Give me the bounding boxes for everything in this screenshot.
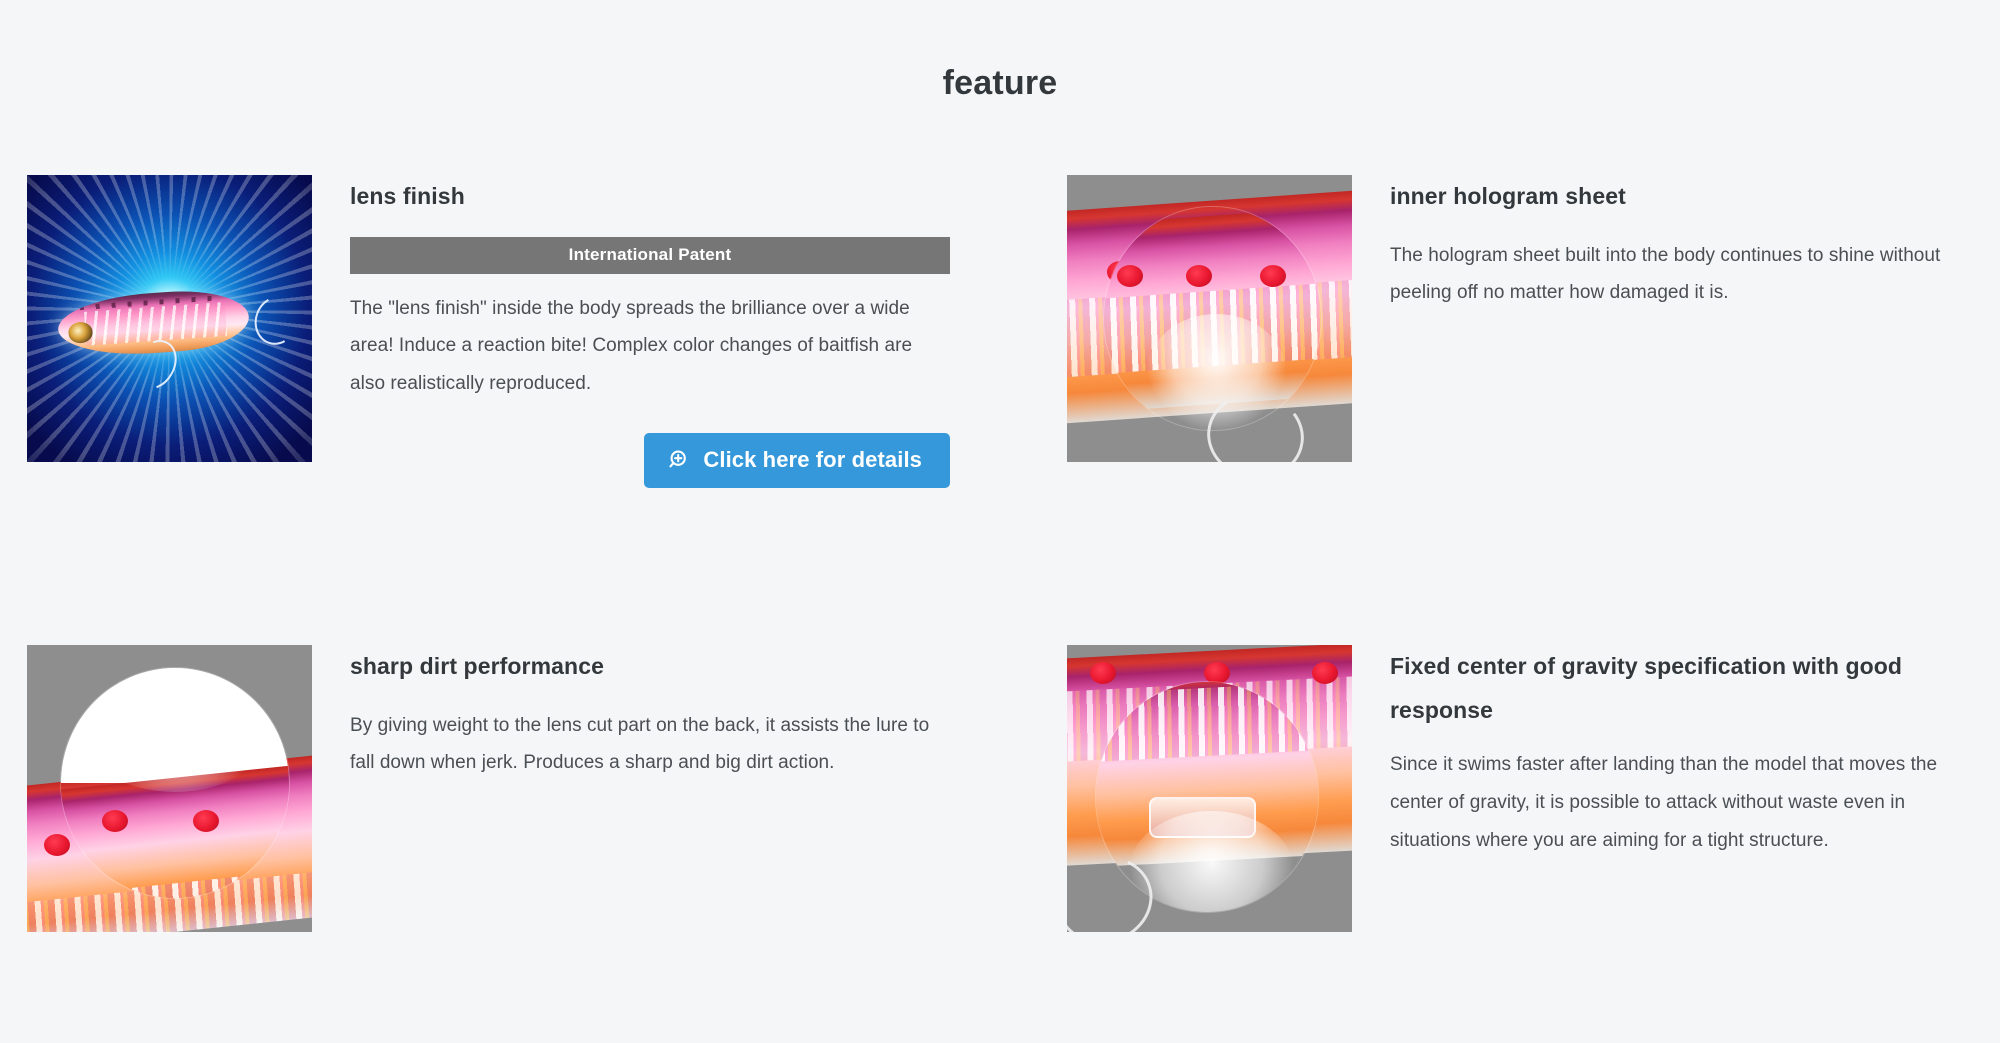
feature-row-top: lens finish International Patent The "le… xyxy=(0,175,2000,645)
magnified-red-dot-row xyxy=(1104,265,1321,279)
feature-body-sharp-dirt-performance: sharp dirt performance By giving weight … xyxy=(312,645,972,782)
fixed-center-of-gravity-image xyxy=(1067,645,1352,932)
detail-button-label: Click here for details xyxy=(703,447,922,473)
inner-hologram-sheet-image xyxy=(1067,175,1352,462)
feature-row-bottom: sharp dirt performance By giving weight … xyxy=(0,645,2000,932)
feature-text-sharp-dirt-performance: By giving weight to the lens cut part on… xyxy=(350,707,950,782)
red-dot xyxy=(1186,265,1212,287)
feature-card-lens-finish: lens finish International Patent The "le… xyxy=(0,175,1020,488)
zoom-in-icon xyxy=(668,448,692,472)
feature-heading-lens-finish: lens finish xyxy=(350,175,950,219)
feature-card-sharp-dirt-performance: sharp dirt performance By giving weight … xyxy=(0,645,1020,932)
red-dot xyxy=(1117,265,1143,287)
magnified-red-dot-row xyxy=(61,810,289,824)
feature-text-inner-hologram-sheet: The hologram sheet built into the body c… xyxy=(1390,237,1960,312)
red-dot xyxy=(1204,662,1230,684)
feature-heading-inner-hologram-sheet: inner hologram sheet xyxy=(1390,175,1960,219)
detail-button-row: Click here for details xyxy=(350,433,950,488)
red-dot xyxy=(1090,662,1116,684)
feature-card-fixed-center-of-gravity: Fixed center of gravity specification wi… xyxy=(1020,645,2000,932)
international-patent-banner: International Patent xyxy=(350,237,950,274)
magnifier-content xyxy=(61,668,289,898)
red-dot-row xyxy=(1067,662,1352,676)
feature-page: feature lens finish xyxy=(0,0,2000,1043)
feature-card-inner-hologram-sheet: inner hologram sheet The hologram sheet … xyxy=(1020,175,2000,462)
feature-body-fixed-center-of-gravity: Fixed center of gravity specification wi… xyxy=(1352,645,1982,859)
feature-body-inner-hologram-sheet: inner hologram sheet The hologram sheet … xyxy=(1352,175,1982,312)
feature-text-fixed-center-of-gravity: Since it swims faster after landing than… xyxy=(1390,746,1960,859)
page-title: feature xyxy=(0,61,2000,105)
magnifier-circle xyxy=(61,668,289,898)
sharp-dirt-performance-image xyxy=(27,645,312,932)
lure-blue-starburst-image xyxy=(27,175,312,462)
feature-text-lens-finish: The "lens finish" inside the body spread… xyxy=(350,290,950,403)
click-here-for-details-button[interactable]: Click here for details xyxy=(644,433,950,488)
feature-heading-fixed-center-of-gravity: Fixed center of gravity specification wi… xyxy=(1390,645,1960,732)
feature-grid: lens finish International Patent The "le… xyxy=(0,175,2000,932)
red-dot xyxy=(1260,265,1286,287)
feature-body-lens-finish: lens finish International Patent The "le… xyxy=(312,175,972,488)
magnified-hologram-stripes xyxy=(1096,682,1318,762)
feature-heading-sharp-dirt-performance: sharp dirt performance xyxy=(350,645,950,689)
magnifier-content xyxy=(1104,207,1321,431)
magnified-hologram-stripes xyxy=(61,869,289,897)
magnifier-circle xyxy=(1104,207,1321,431)
